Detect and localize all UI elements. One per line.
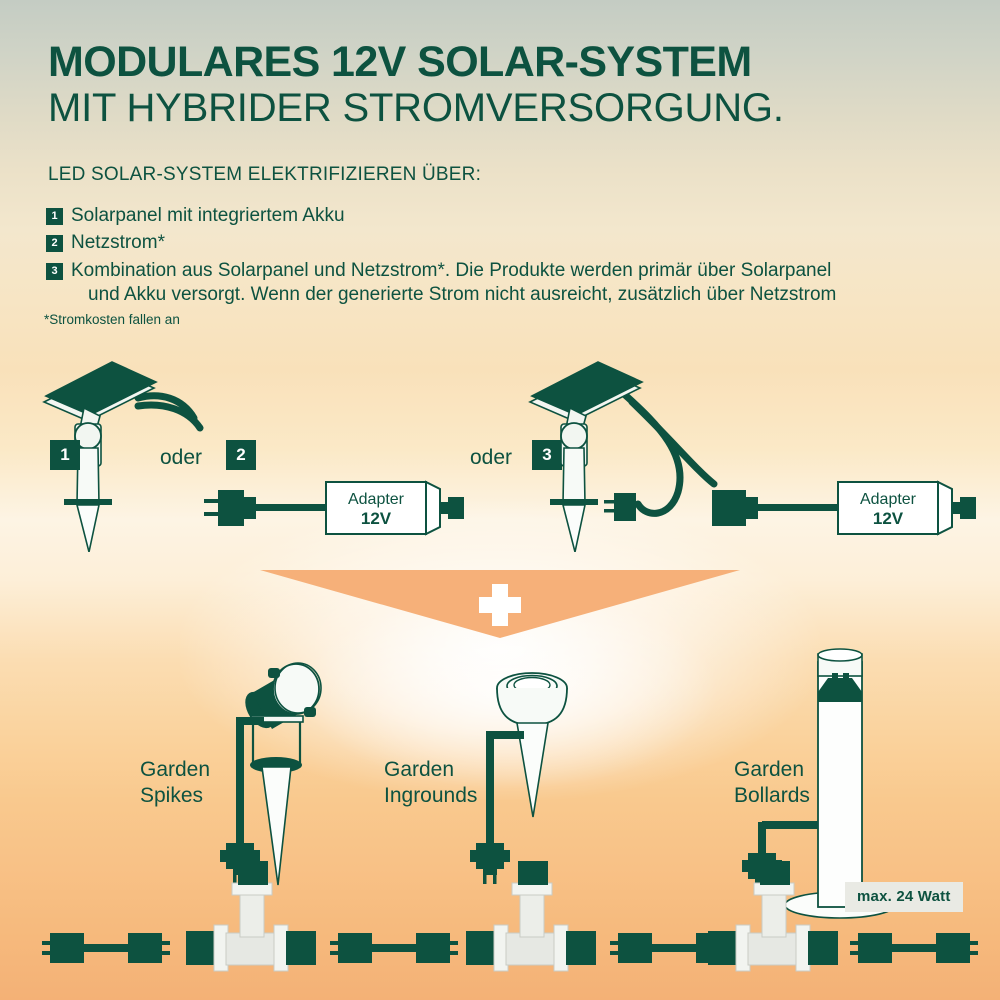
t-body-horizontal xyxy=(506,933,556,965)
cable-wire xyxy=(84,944,130,952)
list-text-1: Solarpanel mit integriertem Akku xyxy=(71,204,345,228)
spikes-label-line1: Garden xyxy=(140,757,210,783)
spot-knob-bottom xyxy=(304,707,316,717)
spike-body xyxy=(563,448,585,504)
cable-connector-right xyxy=(936,933,970,963)
solar-loop-cable-b xyxy=(632,402,714,484)
cable-bus-row xyxy=(0,855,1000,1000)
power-source-list: 1 Solarpanel mit integriertem Akku 2 Net… xyxy=(46,204,956,310)
cable-pin xyxy=(160,951,170,955)
adapter-volts-right: 12V xyxy=(873,509,904,528)
footnote: *Stromkosten fallen an xyxy=(44,312,180,327)
cable-pin xyxy=(330,951,340,955)
cable-pin xyxy=(160,941,170,945)
t-collar-right xyxy=(554,925,568,971)
plus-horizontal xyxy=(479,597,521,613)
spike-body xyxy=(77,448,99,504)
step-badge-2: 2 xyxy=(226,440,256,470)
bollard-led-b xyxy=(843,673,849,682)
cable-connector-left xyxy=(618,933,652,963)
cable-pin xyxy=(448,951,458,955)
cable-pin xyxy=(448,941,458,945)
cable-pin xyxy=(42,941,52,945)
product-label-spikes: Garden Spikes xyxy=(140,757,210,810)
cable-connector-right xyxy=(416,933,450,963)
plug-prong-top xyxy=(204,499,220,503)
t-end-left xyxy=(708,931,738,965)
plus-arrow xyxy=(260,570,740,645)
t-connector xyxy=(466,861,596,971)
t-body-horizontal xyxy=(226,933,276,965)
cable-connector-left xyxy=(338,933,372,963)
spike-collar xyxy=(550,499,598,505)
list-text-3-line2: und Akku versorgt. Wenn der generierte S… xyxy=(71,283,836,307)
adapter-volts-left: 12V xyxy=(361,509,392,528)
adapter-box-end xyxy=(426,482,440,534)
t-end-left xyxy=(186,931,216,965)
panel-hinge-circle xyxy=(561,423,587,449)
right-inline-connector-neck xyxy=(742,497,758,519)
t-end-left xyxy=(466,931,496,965)
infographic-canvas: MODULARES 12V SOLAR-SYSTEM MIT HYBRIDER … xyxy=(0,0,1000,1000)
t-collar-right xyxy=(274,925,288,971)
adapter-box-end xyxy=(938,482,952,534)
cable-segment xyxy=(330,933,458,963)
adapter-cable-in xyxy=(756,504,838,511)
t-end-top xyxy=(518,861,548,885)
cable-wire xyxy=(372,944,418,952)
t-connector xyxy=(708,861,838,971)
cable-wire xyxy=(892,944,938,952)
t-collar-right xyxy=(796,925,810,971)
list-text-2: Netzstrom* xyxy=(71,231,165,255)
t-body-horizontal xyxy=(748,933,798,965)
loop-plug-body xyxy=(614,493,636,521)
cable-pin xyxy=(330,941,340,945)
inground-housing xyxy=(497,688,567,725)
t-end-right xyxy=(286,931,316,965)
cable-pin xyxy=(42,951,52,955)
list-badge-3: 3 xyxy=(46,263,63,280)
list-text-3: Kombination aus Solarpanel und Netzstrom… xyxy=(71,259,836,308)
list-item: 3 Kombination aus Solarpanel und Netzstr… xyxy=(46,259,956,308)
t-end-top xyxy=(238,861,268,885)
list-item: 1 Solarpanel mit integriertem Akku xyxy=(46,204,956,228)
spot-knob-top xyxy=(268,668,280,678)
list-badge-1: 1 xyxy=(46,208,63,225)
adapter-cable-in xyxy=(254,504,326,511)
bollard-cap-top-ellipse xyxy=(818,649,862,661)
cable-pin xyxy=(850,951,860,955)
bollard-led-a xyxy=(832,673,838,682)
adapter-out-connector xyxy=(448,497,464,519)
cable-connector-left xyxy=(858,933,892,963)
list-badge-2: 2 xyxy=(46,235,63,252)
page-title: MODULARES 12V SOLAR-SYSTEM MIT HYBRIDER … xyxy=(48,40,968,130)
ground-spike xyxy=(563,505,585,552)
list-text-3-line1: Kombination aus Solarpanel und Netzstrom… xyxy=(71,260,831,281)
oder-label-2: oder xyxy=(470,446,512,470)
adapter-out-connector xyxy=(960,497,976,519)
t-end-right xyxy=(566,931,596,965)
oder-label-1: oder xyxy=(160,446,202,470)
cable-connector-right xyxy=(128,933,162,963)
cable-segment xyxy=(42,933,170,963)
mains-adapter-group-right: Adapter 12V xyxy=(712,478,992,542)
cable-pin xyxy=(850,941,860,945)
cable-wire xyxy=(652,944,698,952)
t-end-top xyxy=(760,861,790,885)
plug-prong-bottom xyxy=(204,512,220,516)
spikes-label-line2: Spikes xyxy=(140,783,210,809)
title-line-1: MODULARES 12V SOLAR-SYSTEM xyxy=(48,40,968,86)
cable-segment xyxy=(850,933,978,963)
cable-pin xyxy=(610,951,620,955)
list-item: 2 Netzstrom* xyxy=(46,231,956,255)
title-line-2: MIT HYBRIDER STROMVERSORGUNG. xyxy=(48,86,968,131)
t-end-right xyxy=(808,931,838,965)
ground-spike xyxy=(77,505,99,552)
cable-pin xyxy=(968,951,978,955)
step-badge-1: 1 xyxy=(50,440,80,470)
mains-adapter-group-left: Adapter 12V xyxy=(200,478,480,542)
t-body-vertical xyxy=(240,889,264,937)
adapter-title-right: Adapter xyxy=(860,491,917,508)
right-inline-connector-body xyxy=(712,490,746,526)
t-body-vertical xyxy=(762,889,786,937)
cable-pin xyxy=(968,941,978,945)
spike-collar xyxy=(64,499,112,505)
cable-pin xyxy=(610,941,620,945)
t-connector xyxy=(186,861,316,971)
subheading: LED SOLAR-SYSTEM ELEKTRIFIZIEREN ÜBER: xyxy=(48,164,481,186)
adapter-title-left: Adapter xyxy=(348,491,405,508)
cable-connector-left xyxy=(50,933,84,963)
t-body-vertical xyxy=(520,889,544,937)
plug-neck xyxy=(240,497,256,519)
